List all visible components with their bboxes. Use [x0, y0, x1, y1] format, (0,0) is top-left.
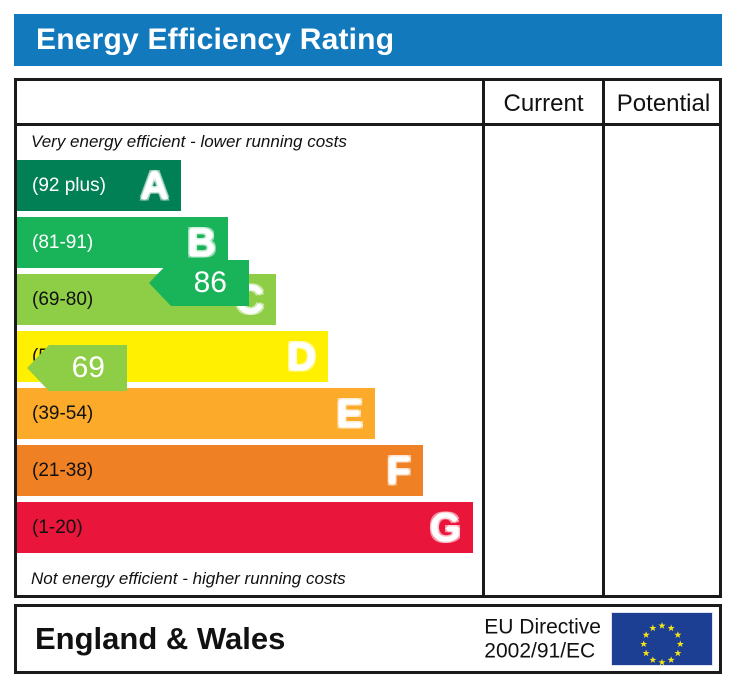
band-range-f: (21-38) — [17, 460, 93, 482]
band-letter-f: F — [387, 451, 411, 491]
caption-bottom: Not energy efficient - higher running co… — [31, 569, 346, 589]
footer-directive-line1: EU Directive — [484, 615, 601, 639]
chart-title-bar: Energy Efficiency Rating — [14, 14, 722, 66]
band-range-g: (1-20) — [17, 517, 83, 539]
potential-rating-value: 86 — [194, 266, 227, 300]
band-range-c: (69-80) — [17, 289, 93, 311]
footer-region-label: England & Wales — [35, 621, 285, 657]
band-row-e: (39-54) E — [17, 388, 375, 439]
band-letter-d: D — [287, 337, 316, 377]
band-row-a: (92 plus) A — [17, 160, 181, 211]
band-row-f: (21-38) F — [17, 445, 423, 496]
energy-efficiency-rating-chart: Energy Efficiency Rating Current Potenti… — [0, 0, 738, 691]
current-rating-value: 69 — [72, 351, 105, 385]
caption-top: Very energy efficient - lower running co… — [31, 132, 347, 152]
band-range-a: (92 plus) — [17, 175, 106, 197]
column-header-current: Current — [485, 81, 602, 126]
band-letter-a: A — [140, 166, 169, 206]
footer-directive-line2: 2002/91/EC — [484, 639, 601, 663]
band-row-g: (1-20) G — [17, 502, 473, 553]
chart-body: Very energy efficient - lower running co… — [17, 126, 719, 595]
footer-directive: EU Directive 2002/91/EC — [484, 615, 601, 662]
band-letter-b: B — [187, 223, 216, 263]
band-letter-g: G — [430, 508, 461, 548]
chart-frame: Current Potential Very energy efficient … — [14, 78, 722, 598]
page-title: Energy Efficiency Rating — [36, 23, 394, 57]
band-letter-e: E — [336, 394, 363, 434]
table-header-row: Current Potential — [17, 81, 719, 126]
band-range-b: (81-91) — [17, 232, 93, 254]
band-range-e: (39-54) — [17, 403, 93, 425]
eu-flag-icon — [611, 612, 713, 666]
footer-frame: England & Wales EU Directive 2002/91/EC — [14, 604, 722, 674]
column-header-potential: Potential — [605, 81, 722, 126]
